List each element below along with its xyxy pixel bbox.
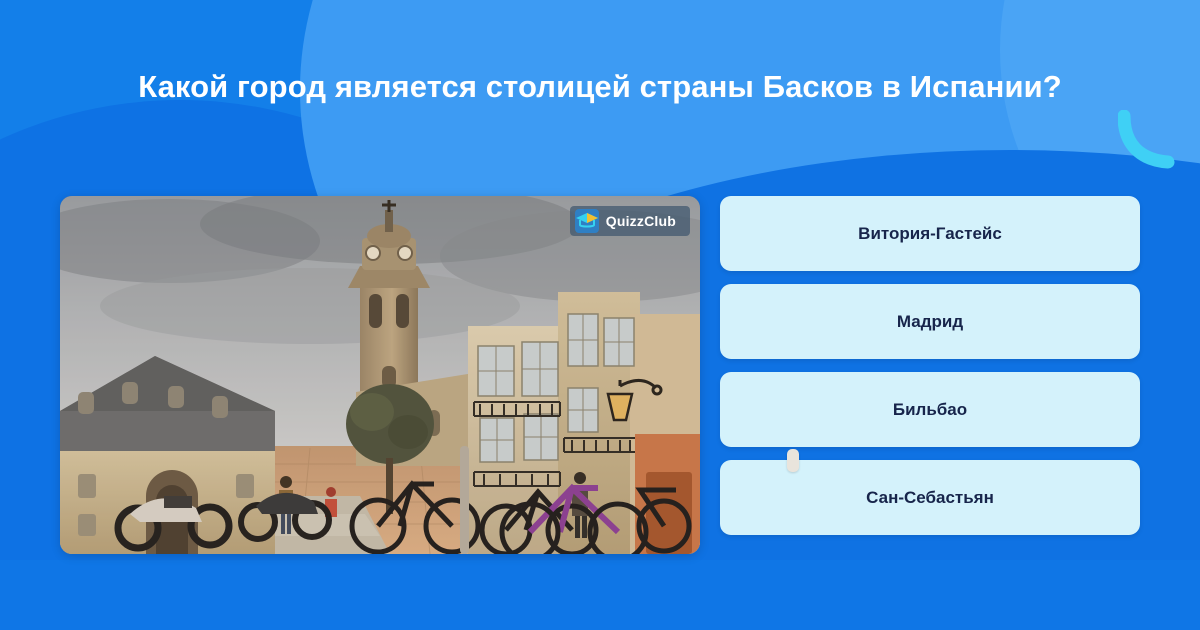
graduation-cap-icon — [575, 209, 599, 233]
answer-options-list: Витория-Гастейс Мадрид Бильбао Сан-Себас… — [720, 196, 1140, 535]
quizzclub-watermark: QuizzClub — [570, 206, 690, 236]
cyan-arc-icon — [1118, 110, 1178, 172]
scrollbar-thumb[interactable] — [787, 449, 799, 472]
background-bottom-band — [0, 560, 1200, 630]
answer-option-3[interactable]: Бильбао — [720, 372, 1140, 447]
old-town-street-illustration — [60, 196, 700, 554]
answer-option-2[interactable]: Мадрид — [720, 284, 1140, 359]
answer-option-1[interactable]: Витория-Гастейс — [720, 196, 1140, 271]
answer-option-3-label: Бильбао — [893, 400, 967, 420]
answer-option-2-label: Мадрид — [897, 312, 963, 332]
question-image: QuizzClub — [60, 196, 700, 554]
answer-option-4[interactable]: Сан-Себастьян — [720, 460, 1140, 535]
quiz-question-card: Какой город является столицей страны Бас… — [0, 0, 1200, 630]
answer-option-4-label: Сан-Себастьян — [866, 488, 994, 508]
answer-option-1-label: Витория-Гастейс — [858, 224, 1002, 244]
watermark-brand: QuizzClub — [606, 213, 676, 229]
page-title: Какой город является столицей страны Бас… — [0, 68, 1200, 105]
